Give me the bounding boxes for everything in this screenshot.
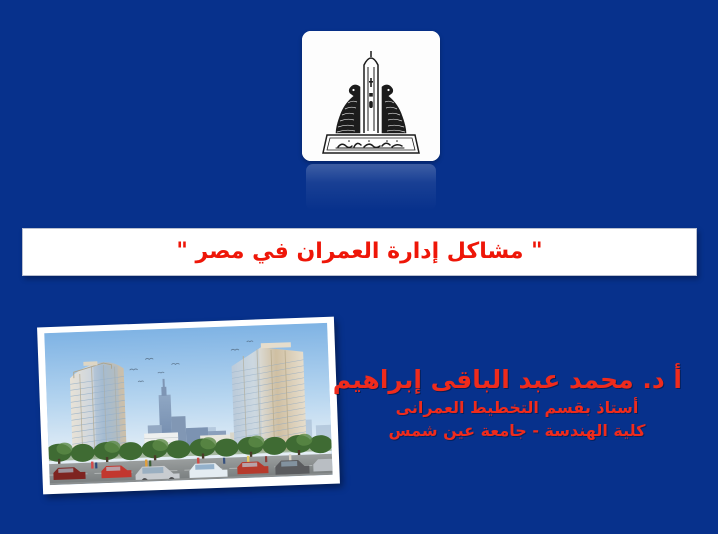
presentation-slide: " مشاكل إدارة العمران في مصر " [0, 0, 718, 534]
cityscape-illustration [44, 323, 332, 485]
urban-development-photo-frame [37, 317, 340, 495]
author-name: أ د. محمد عبد الباقى إبراهيم [352, 366, 682, 395]
university-logo-block [302, 31, 440, 161]
author-position: أستاذ بقسم التخطيط العمرانى [352, 397, 682, 419]
ain-shams-university-emblem-icon [302, 31, 440, 161]
author-block: أ د. محمد عبد الباقى إبراهيم أستاذ بقسم … [352, 366, 682, 442]
slide-title-band: " مشاكل إدارة العمران في مصر " [22, 228, 697, 276]
university-logo-reflection [306, 164, 436, 210]
urban-development-photo [44, 323, 332, 485]
author-affiliation: كلية الهندسة - جامعة عين شمس [352, 420, 682, 442]
slide-title: " مشاكل إدارة العمران في مصر " [176, 240, 542, 264]
university-logo-card [302, 31, 440, 161]
